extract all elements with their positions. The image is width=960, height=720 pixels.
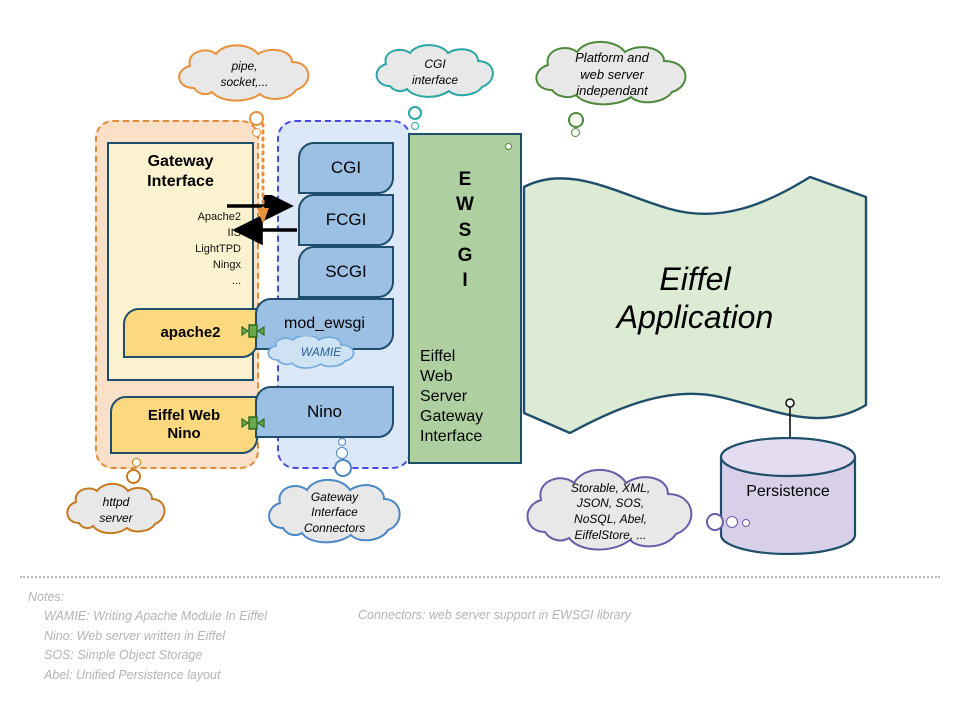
thought-dot bbox=[571, 128, 580, 137]
gateway-title-line1: Gateway bbox=[109, 152, 252, 172]
notes-section: Notes: WAMIE: Writing Apache Module In E… bbox=[28, 588, 928, 685]
request-response-arrows bbox=[225, 195, 335, 245]
ewsgi-expansion: Eiffel Web Server Gateway Interface bbox=[420, 347, 483, 447]
note-connectors: Connectors: web server support in EWSGI … bbox=[358, 606, 631, 625]
cloud-shape bbox=[262, 478, 407, 548]
thought-dot bbox=[726, 516, 738, 528]
thought-dot bbox=[336, 447, 348, 459]
cloud-shape bbox=[62, 483, 170, 539]
cloud-gateway-connectors: Gateway Interface Connectors bbox=[262, 478, 407, 548]
thought-dot bbox=[252, 128, 261, 137]
cloud-shape bbox=[262, 336, 380, 370]
server-item: Ningx bbox=[195, 258, 241, 274]
thought-dot bbox=[249, 111, 264, 126]
ewsgi-acronym: E W S G I bbox=[410, 167, 520, 293]
cloud-shape bbox=[172, 44, 317, 106]
ewsgi-letter: S bbox=[410, 218, 520, 243]
ewsgi-word: Server bbox=[420, 387, 483, 407]
ewsgi-word: Eiffel bbox=[420, 347, 483, 367]
note-item: Abel: Unified Persistence layout bbox=[44, 666, 928, 685]
thought-dot bbox=[338, 438, 346, 446]
block-apache2[interactable]: apache2 bbox=[123, 308, 258, 358]
note-item: SOS: Simple Object Storage bbox=[44, 646, 928, 665]
cloud-shape bbox=[370, 44, 500, 102]
panel-handle-dot bbox=[505, 143, 512, 150]
block-scgi[interactable]: SCGI bbox=[298, 246, 394, 298]
note-item: Nino: Web server written in Eiffel bbox=[44, 627, 928, 646]
thought-dot bbox=[568, 112, 584, 128]
gateway-title-line2: Interface bbox=[109, 172, 252, 192]
gateway-interface-title: Gateway Interface bbox=[109, 152, 252, 192]
flag-label: Eiffel Application bbox=[510, 261, 880, 337]
thought-dot bbox=[411, 122, 419, 130]
server-item: ... bbox=[195, 274, 241, 290]
block-cgi[interactable]: CGI bbox=[298, 142, 394, 194]
ewsgi-letter: G bbox=[410, 243, 520, 268]
ewsgi-word: Interface bbox=[420, 427, 483, 447]
cloud-httpd-server: httpd server bbox=[62, 483, 170, 539]
ewsgi-letter: W bbox=[410, 192, 520, 217]
block-eiffel-web-nino[interactable]: Eiffel Web Nino bbox=[110, 396, 258, 454]
persistence-cylinder[interactable]: Persistence bbox=[718, 437, 858, 555]
thought-dot bbox=[742, 519, 750, 527]
cloud-persistence-formats: Storable, XML, JSON, SOS, NoSQL, Abel, E… bbox=[518, 468, 703, 556]
cloud-pipe-socket: pipe, socket,... bbox=[172, 44, 317, 106]
block-nino-label: Nino bbox=[307, 402, 342, 422]
plug-connector-icon bbox=[240, 413, 266, 433]
block-apache2-label: apache2 bbox=[160, 324, 220, 342]
ewsgi-panel: E W S G I Eiffel Web Server Gateway Inte… bbox=[408, 133, 522, 464]
persistence-label: Persistence bbox=[718, 483, 858, 501]
cloud-platform-independant: Platform and web server independant bbox=[528, 40, 696, 110]
diagram-canvas: Gateway Interface Apache2 IIS LightTPD N… bbox=[0, 0, 960, 720]
thought-dot bbox=[408, 106, 422, 120]
thought-dot bbox=[334, 459, 352, 477]
cloud-cgi-interface: CGI interface bbox=[370, 44, 500, 102]
ewsgi-letter: I bbox=[410, 268, 520, 293]
ewsgi-letter: E bbox=[410, 167, 520, 192]
thought-dot bbox=[706, 513, 724, 531]
ewsgi-word: Gateway bbox=[420, 407, 483, 427]
cloud-shape bbox=[518, 468, 703, 556]
notes-separator bbox=[20, 576, 940, 578]
block-mod-ewsgi-label: mod_ewsgi bbox=[284, 314, 365, 333]
cloud-wamie: WAMIE bbox=[262, 336, 380, 370]
flag-line1: Eiffel bbox=[510, 261, 880, 299]
ewsgi-word: Web bbox=[420, 367, 483, 387]
block-nino[interactable]: Nino bbox=[255, 386, 394, 438]
eiffel-application-flag: Eiffel Application bbox=[510, 165, 880, 450]
cloud-shape bbox=[528, 40, 696, 110]
eiffel-web-line1: Eiffel Web bbox=[148, 407, 220, 424]
notes-title: Notes: bbox=[28, 588, 928, 607]
block-cgi-label: CGI bbox=[331, 158, 361, 178]
flag-line2: Application bbox=[510, 299, 880, 337]
block-scgi-label: SCGI bbox=[325, 262, 367, 282]
thought-dot bbox=[126, 469, 141, 484]
block-eiffel-web-nino-label: Eiffel Web Nino bbox=[148, 407, 220, 443]
eiffel-web-line2: Nino bbox=[167, 425, 200, 442]
thought-dot bbox=[132, 458, 141, 467]
